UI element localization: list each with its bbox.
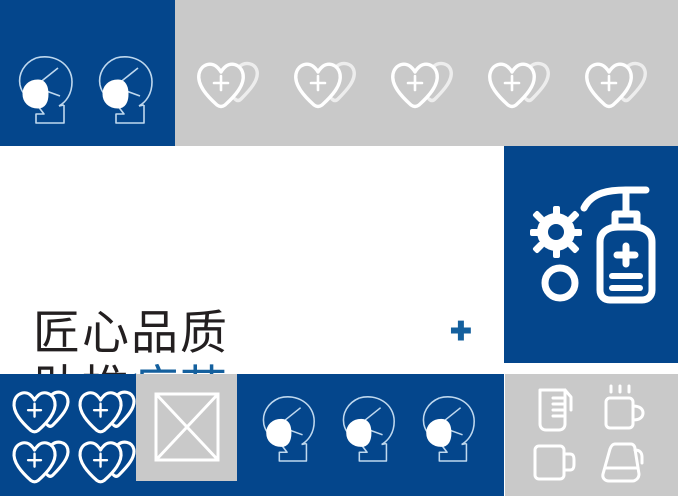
hand-sanitizer-bottle-icon (584, 190, 652, 300)
masked-face-icon (14, 52, 78, 128)
dot-icon (545, 268, 575, 298)
bottom-right-gray-panel (505, 374, 678, 496)
poster-canvas: 匠心品质 助推疫苗 INGENUITY QUALITY BOOST VACCIN… (0, 0, 678, 496)
masked-face-icon (338, 392, 400, 466)
mug-icon (529, 438, 587, 490)
bottom-heart-icon-grid (10, 388, 138, 486)
top-heart-icon-row (195, 59, 649, 111)
double-heart-plus-icon (10, 438, 72, 486)
kettle-icon (597, 438, 655, 490)
top-mask-icon-row (14, 52, 158, 128)
double-heart-plus-icon (486, 59, 552, 111)
masked-face-icon (418, 392, 480, 466)
steaming-cup-icon (597, 384, 655, 436)
measuring-beaker-icon (529, 384, 587, 436)
headline-panel: 匠心品质 助推疫苗 INGENUITY QUALITY BOOST VACCIN… (0, 146, 504, 363)
headline-line-1: 匠心品质 (33, 306, 473, 361)
broken-image-placeholder-panel (136, 374, 237, 481)
bottom-blue-panel (0, 374, 504, 496)
double-heart-plus-icon (10, 388, 72, 436)
masked-face-icon (94, 52, 158, 128)
kitchenware-icon-grid (529, 384, 655, 490)
double-heart-plus-icon (292, 59, 358, 111)
broken-image-placeholder-icon (154, 392, 220, 462)
top-left-blue-panel (0, 0, 175, 146)
double-heart-plus-icon (76, 388, 138, 436)
double-heart-plus-icon (389, 59, 455, 111)
top-gray-strip (175, 0, 678, 146)
germ-icon (530, 206, 582, 258)
double-heart-plus-icon (76, 438, 138, 486)
right-blue-panel (504, 146, 678, 363)
plus-mark-icon: ✚ (450, 322, 468, 340)
masked-face-icon (258, 392, 320, 466)
bottom-mask-icon-row (258, 392, 480, 466)
sanitizer-illustration (522, 184, 662, 324)
double-heart-plus-icon (583, 59, 649, 111)
double-heart-plus-icon (195, 59, 261, 111)
